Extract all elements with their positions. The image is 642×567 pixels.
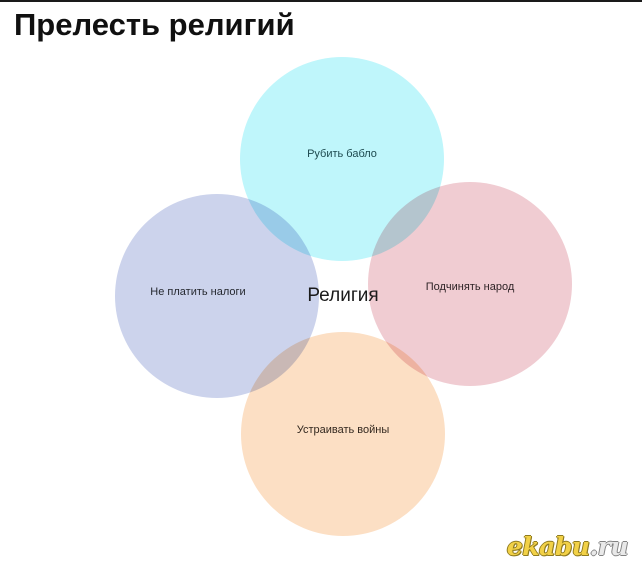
watermark-tld: .ru: [589, 532, 628, 561]
watermark-name: ekabu: [507, 532, 590, 561]
venn-diagram: Рубить бабло Не платить налоги Подчинять…: [0, 2, 642, 567]
image-canvas: Прелесть религий Рубить бабло Не платить…: [0, 0, 642, 567]
watermark: ekabu.ru: [507, 532, 628, 561]
venn-circle-bottom: [241, 332, 445, 536]
